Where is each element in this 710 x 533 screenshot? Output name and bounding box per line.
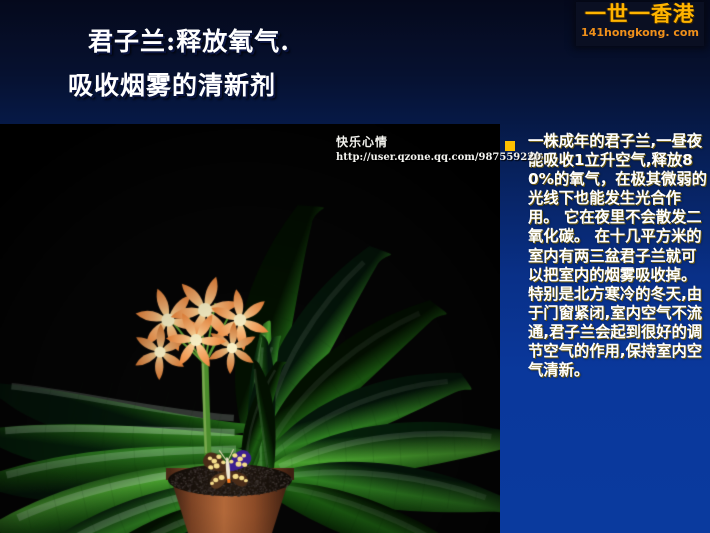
slide-title-line-2: 吸收烟雾的清新剂 [68,66,276,102]
slide-title-line-1: 君子兰:释放氧气. [88,22,290,58]
watermark-title-text: 快乐心情 [336,133,541,150]
logo-url-text: 141hongkong. com [576,26,704,40]
presentation-slide: 君子兰:释放氧气. 吸收烟雾的清新剂 一世一香港 141hongkong. co… [0,0,710,533]
logo-chinese-text: 一世一香港 [576,2,704,26]
photo-watermark: 快乐心情 http://user.qzone.qq.com/987559220 [336,133,541,163]
clivia-plant-photo [0,124,500,533]
body-text-panel: 一株成年的君子兰,一昼夜能吸收1立升空气,释放80%的氧气，在极其微弱的光线下也… [500,124,710,533]
photo-canvas [0,124,500,533]
body-paragraph: 一株成年的君子兰,一昼夜能吸收1立升空气,释放80%的氧气，在极其微弱的光线下也… [528,132,709,380]
site-logo: 一世一香港 141hongkong. com [576,2,704,46]
slide-header: 君子兰:释放氧气. 吸收烟雾的清新剂 一世一香港 141hongkong. co… [0,0,710,124]
watermark-url-text: http://user.qzone.qq.com/987559220 [336,152,541,163]
